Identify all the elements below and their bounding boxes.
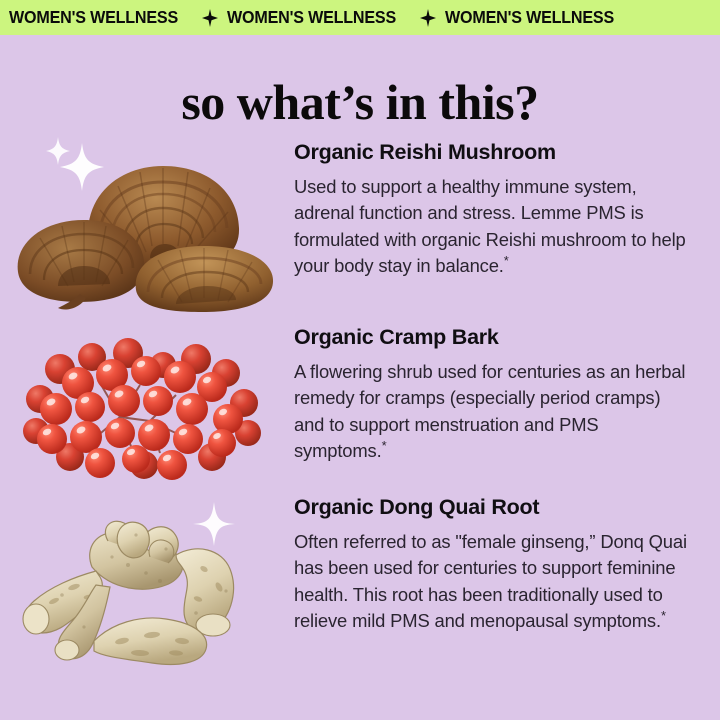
banner-label-1: WOMEN'S WELLNESS: [9, 9, 178, 27]
ingredient-row-dong-quai: Organic Dong Quai Root Often referred to…: [0, 495, 720, 685]
footnote-asterisk: *: [504, 253, 509, 268]
dong-quai-root-image: [0, 495, 290, 685]
footnote-asterisk: *: [382, 438, 387, 453]
ingredient-title: Organic Cramp Bark: [294, 325, 694, 350]
ingredient-copy-dong-quai: Organic Dong Quai Root Often referred to…: [294, 495, 694, 635]
footnote-asterisk: *: [661, 608, 666, 623]
ingredient-copy-reishi: Organic Reishi Mushroom Used to support …: [294, 140, 694, 280]
sparkle-icon: [193, 9, 227, 27]
cramp-bark-berries-image: [0, 325, 290, 485]
ingredient-row-reishi: Organic Reishi Mushroom Used to support …: [0, 140, 720, 320]
ingredient-row-cramp-bark: Organic Cramp Bark A flowering shrub use…: [0, 325, 720, 485]
ingredient-title: Organic Dong Quai Root: [294, 495, 694, 520]
banner-label-2: WOMEN'S WELLNESS: [227, 9, 396, 27]
ingredient-description: A flowering shrub used for centuries as …: [294, 359, 694, 465]
page-title: so what’s in this?: [0, 76, 720, 129]
banner-label-3: WOMEN'S WELLNESS: [445, 9, 614, 27]
reishi-mushroom-image: [0, 140, 290, 320]
women-wellness-marquee-banner: WOMEN'S WELLNESS WOMEN'S WELLNESS WOMEN'…: [0, 0, 720, 35]
sparkle-icon: [411, 9, 445, 27]
ingredient-description: Often referred to as "female ginseng,” D…: [294, 529, 694, 635]
ingredient-title: Organic Reishi Mushroom: [294, 140, 694, 165]
ingredients-infographic: WOMEN'S WELLNESS WOMEN'S WELLNESS WOMEN'…: [0, 0, 720, 720]
ingredient-description: Used to support a healthy immune system,…: [294, 174, 694, 280]
ingredient-copy-cramp-bark: Organic Cramp Bark A flowering shrub use…: [294, 325, 694, 465]
